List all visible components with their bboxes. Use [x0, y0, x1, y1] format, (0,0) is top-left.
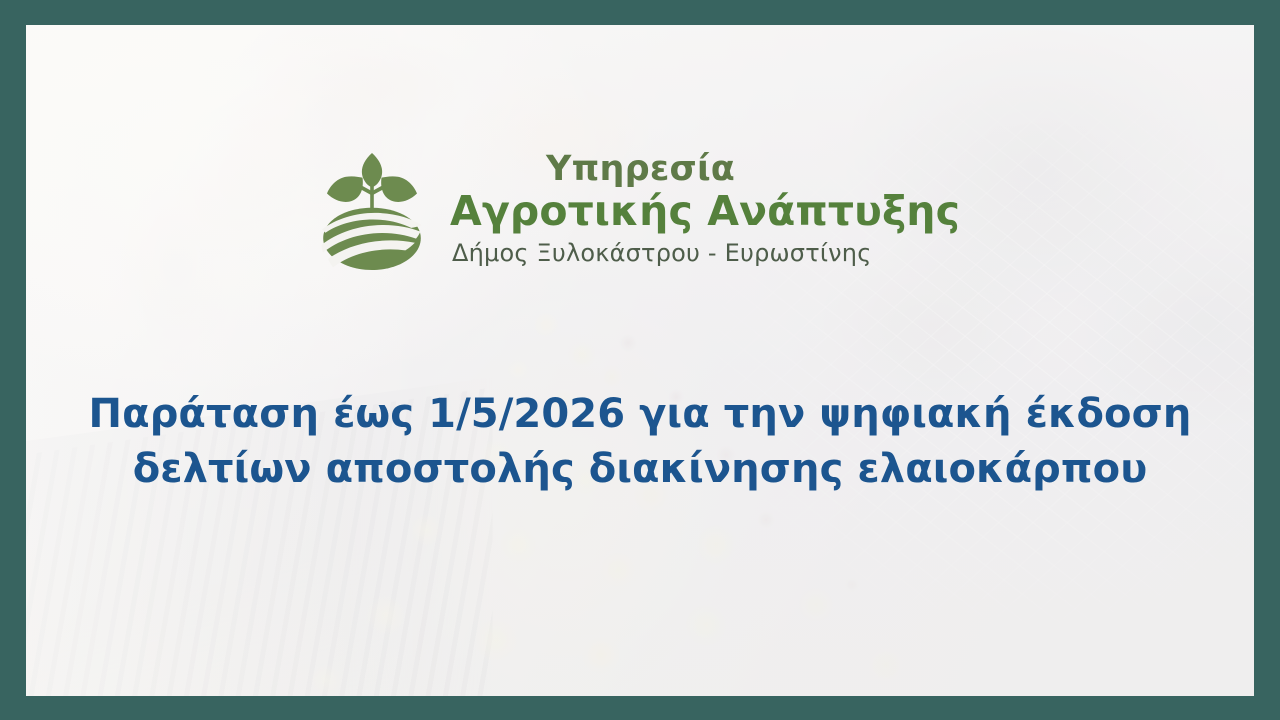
- poster-canvas: Υπηρεσία Αγροτικής Ανάπτυξης Δήμος Ξυλοκ…: [26, 25, 1254, 696]
- logo-line-department: Αγροτικής Ανάπτυξης: [450, 189, 960, 233]
- logo-line-municipality: Δήμος Ξυλοκάστρου - Ευρωστίνης: [452, 240, 871, 268]
- sprout-over-field-icon: [320, 147, 424, 271]
- headline-line-2: δελτίων αποστολής διακίνησης ελαιοκάρπου: [66, 442, 1214, 497]
- logo-line-service: Υπηρεσία: [546, 151, 735, 187]
- headline-line-1: Παράταση έως 1/5/2026 για την ψηφιακή έκ…: [66, 387, 1214, 442]
- logo-wordmark: Υπηρεσία Αγροτικής Ανάπτυξης Δήμος Ξυλοκ…: [450, 151, 960, 268]
- poster-frame: Υπηρεσία Αγροτικής Ανάπτυξης Δήμος Ξυλοκ…: [0, 0, 1280, 720]
- organization-logo: Υπηρεσία Αγροτικής Ανάπτυξης Δήμος Ξυλοκ…: [26, 147, 1254, 271]
- announcement-headline: Παράταση έως 1/5/2026 για την ψηφιακή έκ…: [26, 387, 1254, 497]
- poster-content: Υπηρεσία Αγροτικής Ανάπτυξης Δήμος Ξυλοκ…: [26, 25, 1254, 696]
